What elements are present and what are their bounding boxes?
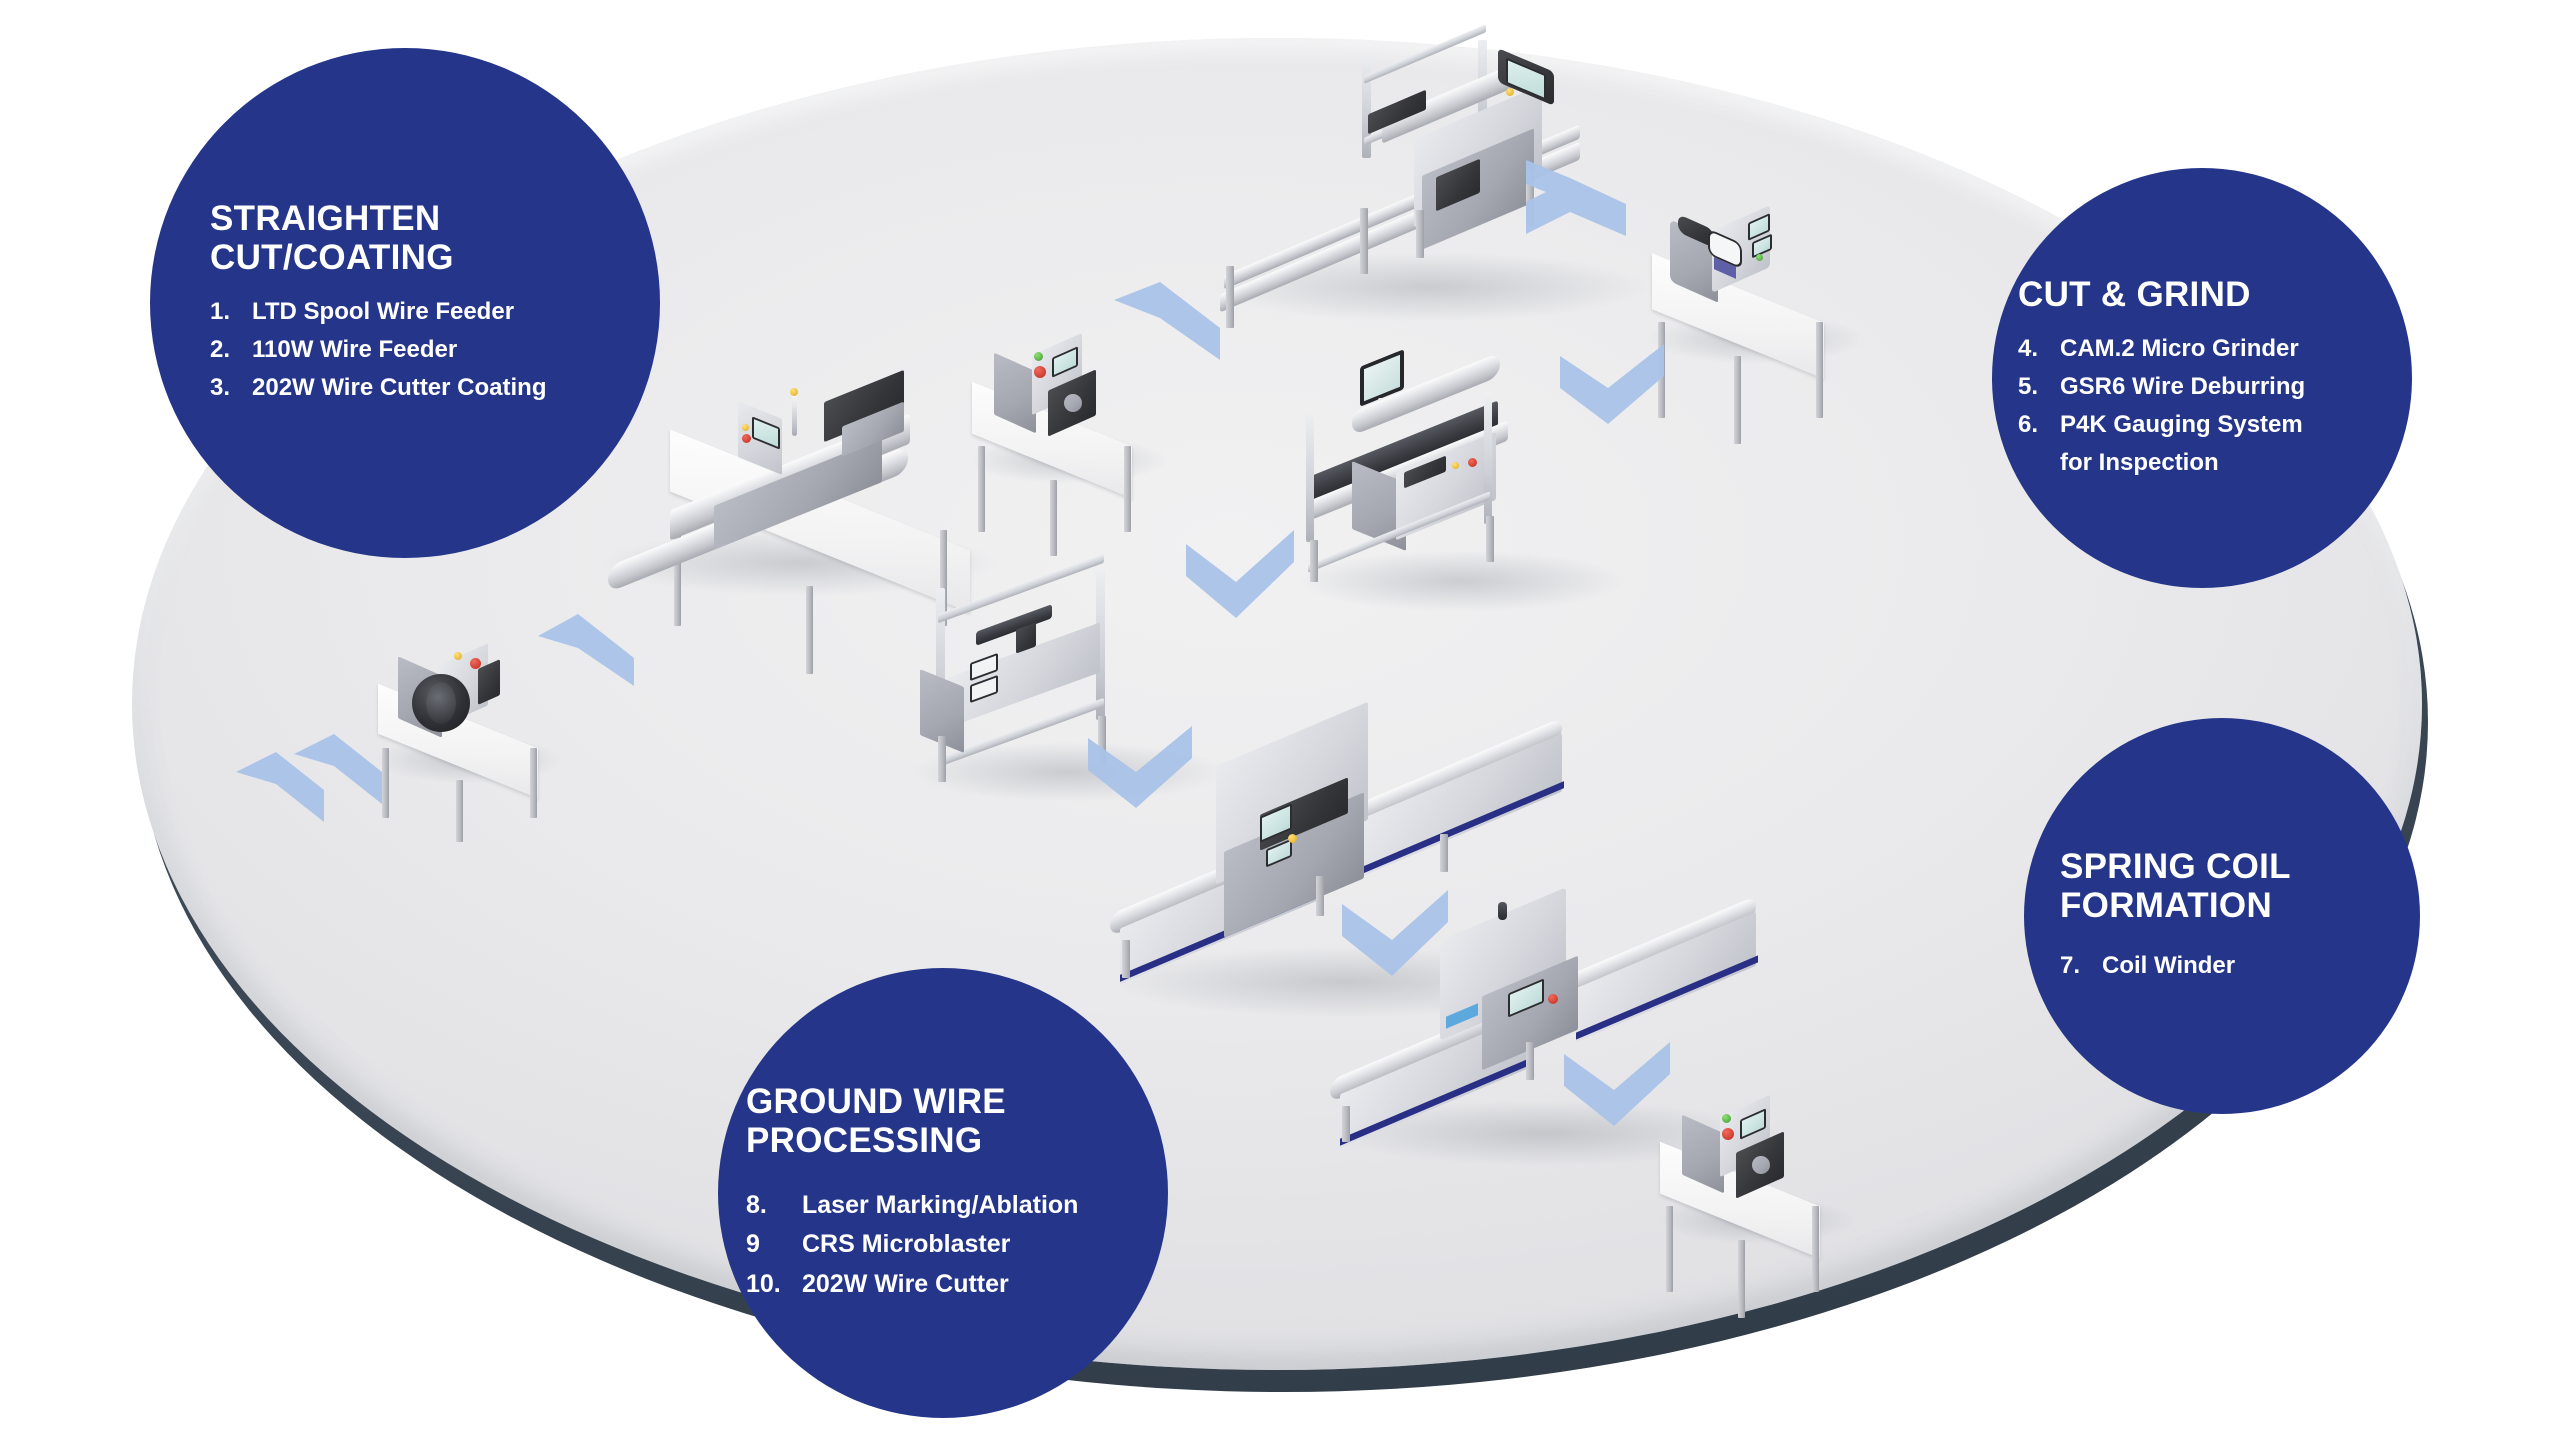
list-item-label: GSR6 Wire Deburring (2060, 368, 2394, 406)
list-item-number: 2. (210, 331, 252, 369)
list-item: 9 CRS Microblaster (746, 1225, 1150, 1265)
arrow-chevron-2 (1108, 278, 1224, 376)
callout-list-spring-coil: 7. Coil Winder (2060, 947, 2402, 985)
list-item-number: 8. (746, 1186, 802, 1226)
list-item-label: 202W Wire Cutter (802, 1265, 1150, 1305)
arrow-chevron-5 (1178, 520, 1302, 628)
list-item-number: 3. (210, 369, 252, 407)
callout-list-straighten: 1. LTD Spool Wire Feeder 2. 110W Wire Fe… (210, 293, 636, 407)
list-item-number: 6. (2018, 406, 2060, 482)
list-item-label: Laser Marking/Ablation (802, 1186, 1150, 1226)
list-item-label: CAM.2 Micro Grinder (2060, 330, 2394, 368)
list-item: 1. LTD Spool Wire Feeder (210, 293, 636, 331)
machine-wire-cutter-gantry (1210, 40, 1710, 360)
list-item-number: 4. (2018, 330, 2060, 368)
callout-heading-ground-wire: GROUND WIRE PROCESSING (746, 1082, 1150, 1160)
callout-cut-and-grind[interactable]: CUT & GRIND 4. CAM.2 Micro Grinder 5. GS… (1992, 168, 2412, 588)
callout-spring-coil-formation[interactable]: SPRING COIL FORMATION 7. Coil Winder (2024, 718, 2420, 1114)
list-item-number: 1. (210, 293, 252, 331)
arrow-chevron-3 (1520, 148, 1632, 246)
list-item: 6. P4K Gauging System for Inspection (2018, 406, 2394, 482)
arrow-chevron-6 (1082, 716, 1198, 818)
list-item-number: 5. (2018, 368, 2060, 406)
callout-straighten-cut-coating[interactable]: STRAIGHTEN CUT/COATING 1. LTD Spool Wire… (150, 48, 660, 558)
arrow-chevron-4 (1552, 330, 1670, 436)
callout-heading-spring-coil: SPRING COIL FORMATION (2060, 847, 2402, 925)
callout-heading-cut-grind: CUT & GRIND (2018, 275, 2394, 314)
list-item-label: Coil Winder (2102, 947, 2402, 985)
diagram-canvas: STRAIGHTEN CUT/COATING 1. LTD Spool Wire… (0, 0, 2560, 1440)
list-item: 8. Laser Marking/Ablation (746, 1186, 1150, 1226)
list-item: 4. CAM.2 Micro Grinder (2018, 330, 2394, 368)
arrow-chevron-1 (534, 596, 638, 688)
arrow-chevron-entry (232, 724, 384, 836)
callout-ground-wire-processing[interactable]: GROUND WIRE PROCESSING 8. Laser Marking/… (718, 968, 1168, 1418)
list-item-number: 9 (746, 1225, 802, 1265)
arrow-chevron-8 (1558, 1030, 1676, 1136)
list-item: 7. Coil Winder (2060, 947, 2402, 985)
callout-list-ground-wire: 8. Laser Marking/Ablation 9 CRS Microbla… (746, 1186, 1150, 1305)
callout-list-cut-grind: 4. CAM.2 Micro Grinder 5. GSR6 Wire Debu… (2018, 330, 2394, 482)
list-item: 3. 202W Wire Cutter Coating (210, 369, 636, 407)
list-item-label: LTD Spool Wire Feeder (252, 293, 636, 331)
list-item: 5. GSR6 Wire Deburring (2018, 368, 2394, 406)
list-item: 2. 110W Wire Feeder (210, 331, 636, 369)
list-item-number: 10. (746, 1265, 802, 1305)
machine-cam2-micro-grinder (1652, 196, 1902, 416)
list-item-number: 7. (2060, 947, 2102, 985)
arrow-chevron-7 (1336, 878, 1454, 986)
list-item-label: 202W Wire Cutter Coating (252, 369, 636, 407)
callout-heading-straighten: STRAIGHTEN CUT/COATING (210, 199, 636, 277)
machine-202w-wire-cutter (1660, 1084, 1880, 1304)
list-item-label: CRS Microblaster (802, 1225, 1150, 1265)
list-item-label: P4K Gauging System for Inspection (2060, 406, 2394, 482)
list-item: 10. 202W Wire Cutter (746, 1265, 1150, 1305)
list-item-label: 110W Wire Feeder (252, 331, 636, 369)
